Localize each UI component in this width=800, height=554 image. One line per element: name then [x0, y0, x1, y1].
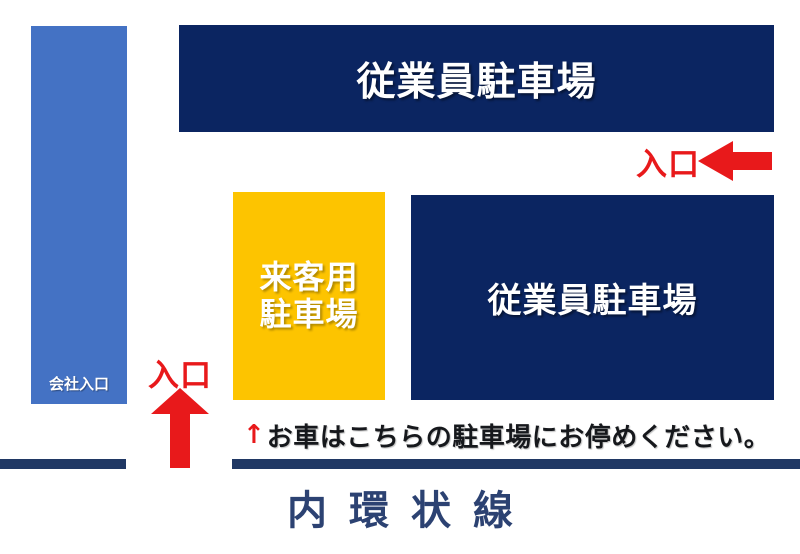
parking-instruction-caption: ↑ お車はこちらの駐車場にお停めください。 [243, 417, 770, 454]
parking-map-canvas: 会社入口 従業員駐車場 入口 来客用 駐車場 従業員駐車場 入口 ↑ お車はこち… [0, 0, 800, 554]
employee-parking-lot-top-label: 従業員駐車場 [356, 51, 596, 107]
visitor-parking-lot-label-line2: 駐車場 [259, 296, 358, 333]
employee-parking-lot-right: 従業員駐車場 [411, 195, 774, 400]
caption-up-arrow-icon: ↑ [243, 422, 265, 448]
road-line-right-segment [232, 459, 800, 469]
employee-parking-lot-right-label: 従業員駐車場 [488, 273, 698, 322]
company-entrance-label: 会社入口 [49, 373, 109, 394]
caption-text: お車はこちらの駐車場にお停めください。 [267, 417, 771, 454]
entrance-label-right: 入口 [636, 139, 700, 184]
entrance-arrow-up-icon [151, 388, 209, 468]
road-line-left-segment [0, 459, 126, 469]
company-entrance-bar: 会社入口 [31, 26, 127, 404]
road-name-label: 内環状線 [0, 478, 800, 536]
entrance-arrow-left-icon [698, 141, 772, 181]
visitor-parking-lot: 来客用 駐車場 [233, 192, 385, 400]
employee-parking-lot-top: 従業員駐車場 [179, 25, 774, 132]
visitor-parking-lot-label-line1: 来客用 [259, 259, 358, 296]
